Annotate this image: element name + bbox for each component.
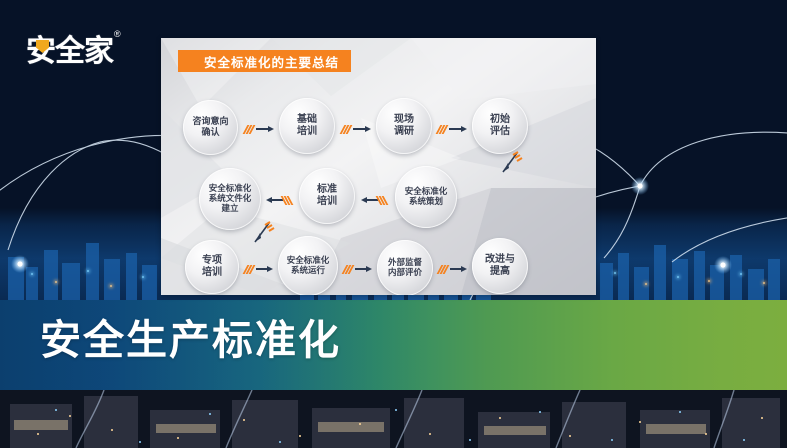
node-label-line2: 培训 xyxy=(317,196,337,208)
registered-mark: ® xyxy=(114,29,121,39)
connector-arrow-3 xyxy=(438,124,467,134)
feathered-arrow-icon xyxy=(344,265,355,273)
node-label-line3: 建立 xyxy=(209,204,252,214)
node-label-line1: 咨询意向 xyxy=(192,117,228,128)
flow-node-8[interactable]: 专项 培训 xyxy=(185,240,239,294)
connector-arrow-2 xyxy=(342,124,371,134)
logo-text: 安全家 xyxy=(26,34,113,69)
node-label-line1: 专项 xyxy=(202,255,222,267)
connector-arrow-5 xyxy=(361,195,389,205)
feathered-arrow-icon xyxy=(283,196,294,204)
node-label-line1: 改进与 xyxy=(485,254,515,266)
flow-node-3[interactable]: 现场 调研 xyxy=(376,98,432,154)
brand-logo[interactable]: 安全家 ® xyxy=(26,26,121,70)
node-label-line1: 初始 xyxy=(490,114,510,126)
connector-arrow-diagonal-left xyxy=(249,220,275,246)
feathered-arrow-icon xyxy=(438,125,449,133)
presentation-slide[interactable]: 安全标准化的主要总结 咨询意向 确认 基础 培训 xyxy=(161,38,596,295)
node-label-line2: 确认 xyxy=(192,128,228,139)
feathered-arrow-icon xyxy=(245,125,256,133)
flow-node-4[interactable]: 初始 评估 xyxy=(472,98,528,154)
node-label-line2: 系统文件化 xyxy=(209,194,252,204)
node-label-line2: 系统策划 xyxy=(405,197,448,207)
feathered-arrow-icon xyxy=(439,265,450,273)
node-label-line2: 培训 xyxy=(202,267,222,279)
slide-banner: 安全生产标准化 xyxy=(0,0,787,448)
flow-node-2[interactable]: 基础 培训 xyxy=(279,98,335,154)
node-label-line2: 提高 xyxy=(485,266,515,278)
node-label-line2: 培训 xyxy=(297,126,317,138)
hero-heading: 安全生产标准化 xyxy=(40,318,341,362)
feathered-arrow-icon xyxy=(378,196,389,204)
node-label-line1: 现场 xyxy=(394,114,414,126)
node-label-line2: 调研 xyxy=(394,126,414,138)
flow-node-10[interactable]: 外部监督 内部评价 xyxy=(377,240,433,295)
flow-node-5[interactable]: 安全标准化 系统策划 xyxy=(395,166,457,228)
connector-arrow-1 xyxy=(245,124,274,134)
flow-node-1[interactable]: 咨询意向 确认 xyxy=(183,100,238,155)
connector-arrow-7 xyxy=(245,264,273,274)
connector-arrow-diagonal-right xyxy=(497,150,523,176)
node-label-line1: 安全标准化 xyxy=(287,256,330,266)
slide-title: 安全标准化的主要总结 xyxy=(178,50,351,72)
feathered-arrow-icon xyxy=(342,125,353,133)
flow-node-11[interactable]: 改进与 提高 xyxy=(472,238,528,294)
connector-arrow-9 xyxy=(439,264,467,274)
node-label-line2: 评估 xyxy=(490,126,510,138)
node-label-line2: 系统运行 xyxy=(287,266,330,276)
node-label-line2: 内部评价 xyxy=(388,268,422,278)
node-label-line1: 标准 xyxy=(317,184,337,196)
node-label-line1: 安全标准化 xyxy=(405,187,448,197)
aerial-city-photo xyxy=(0,390,787,448)
node-label-line1: 基础 xyxy=(297,114,317,126)
feathered-arrow-icon xyxy=(245,265,256,273)
flow-node-6[interactable]: 标准 培训 xyxy=(299,168,355,224)
node-label-line1: 外部监督 xyxy=(388,258,422,268)
flow-node-9[interactable]: 安全标准化 系统运行 xyxy=(278,236,338,295)
node-label-line1: 安全标准化 xyxy=(209,184,252,194)
connector-arrow-6 xyxy=(266,195,294,205)
logo-wordmark: 安全家 xyxy=(26,26,113,70)
connector-arrow-8 xyxy=(344,264,372,274)
